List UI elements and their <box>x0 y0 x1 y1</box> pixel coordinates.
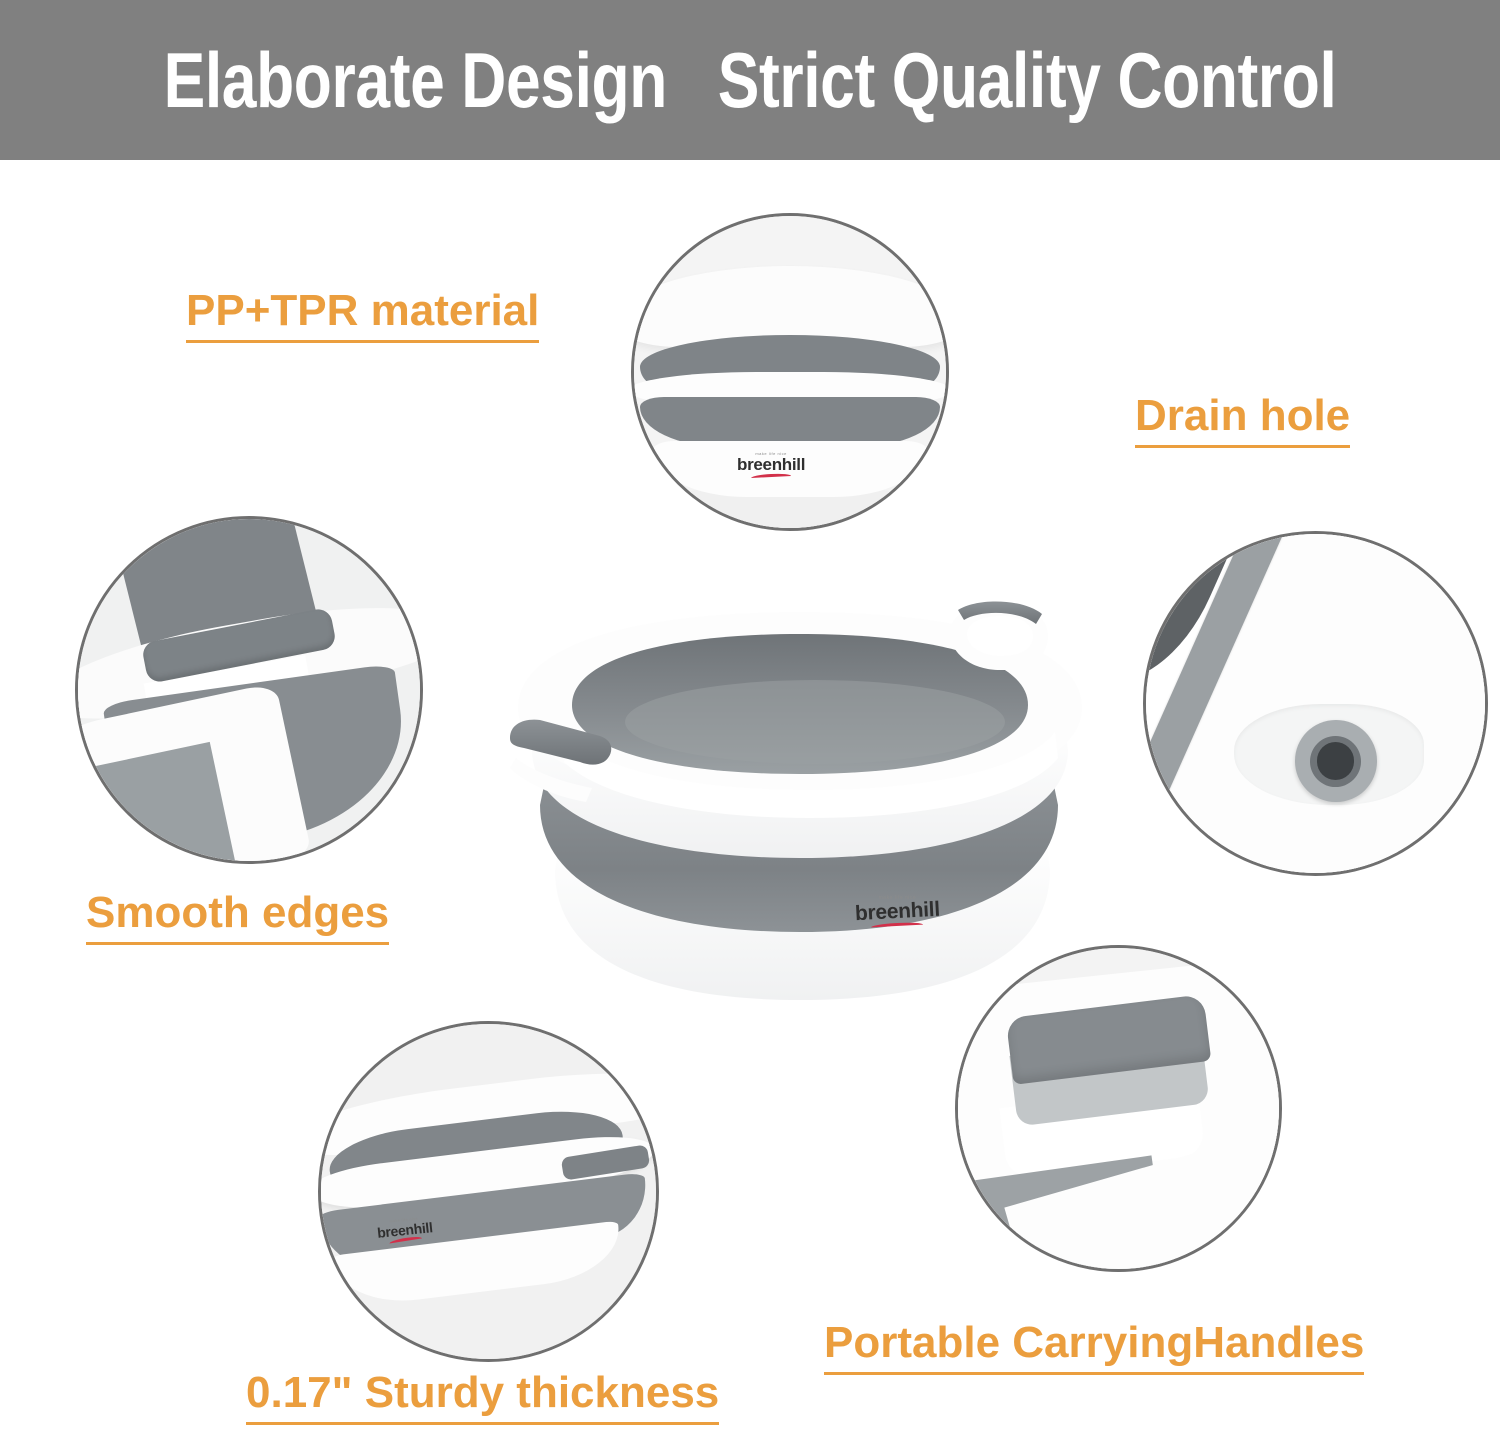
callout-label-drain-hole: Drain hole <box>1135 393 1350 448</box>
callout-label-material: PP+TPR material <box>186 288 539 343</box>
basket-front-view-detail <box>634 216 946 528</box>
wall-thickness-detail <box>321 1024 656 1359</box>
detail-circle-smooth-edges <box>75 516 423 864</box>
callout-label-carrying-handles: Portable CarryingHandles <box>824 1320 1364 1375</box>
tpr-band <box>640 397 940 447</box>
detail-circle-material <box>631 213 949 531</box>
rim-edge-detail <box>78 519 420 861</box>
detail-circle-thickness <box>318 1021 659 1362</box>
product-hero-image <box>480 590 1120 1010</box>
detail-circle-drain-hole <box>1143 531 1488 876</box>
drain-hole-opening <box>1317 742 1354 779</box>
page-title: Elaborate Design Strict Quality Control <box>164 41 1337 119</box>
header-banner: Elaborate Design Strict Quality Control <box>0 0 1500 160</box>
basket-base <box>653 441 928 497</box>
callout-label-smooth-edges: Smooth edges <box>86 890 389 945</box>
infographic-page: Elaborate Design Strict Quality Control … <box>0 0 1500 1441</box>
drain-plug-detail <box>1146 534 1485 873</box>
callout-label-thickness: 0.17" Sturdy thickness <box>246 1370 719 1425</box>
